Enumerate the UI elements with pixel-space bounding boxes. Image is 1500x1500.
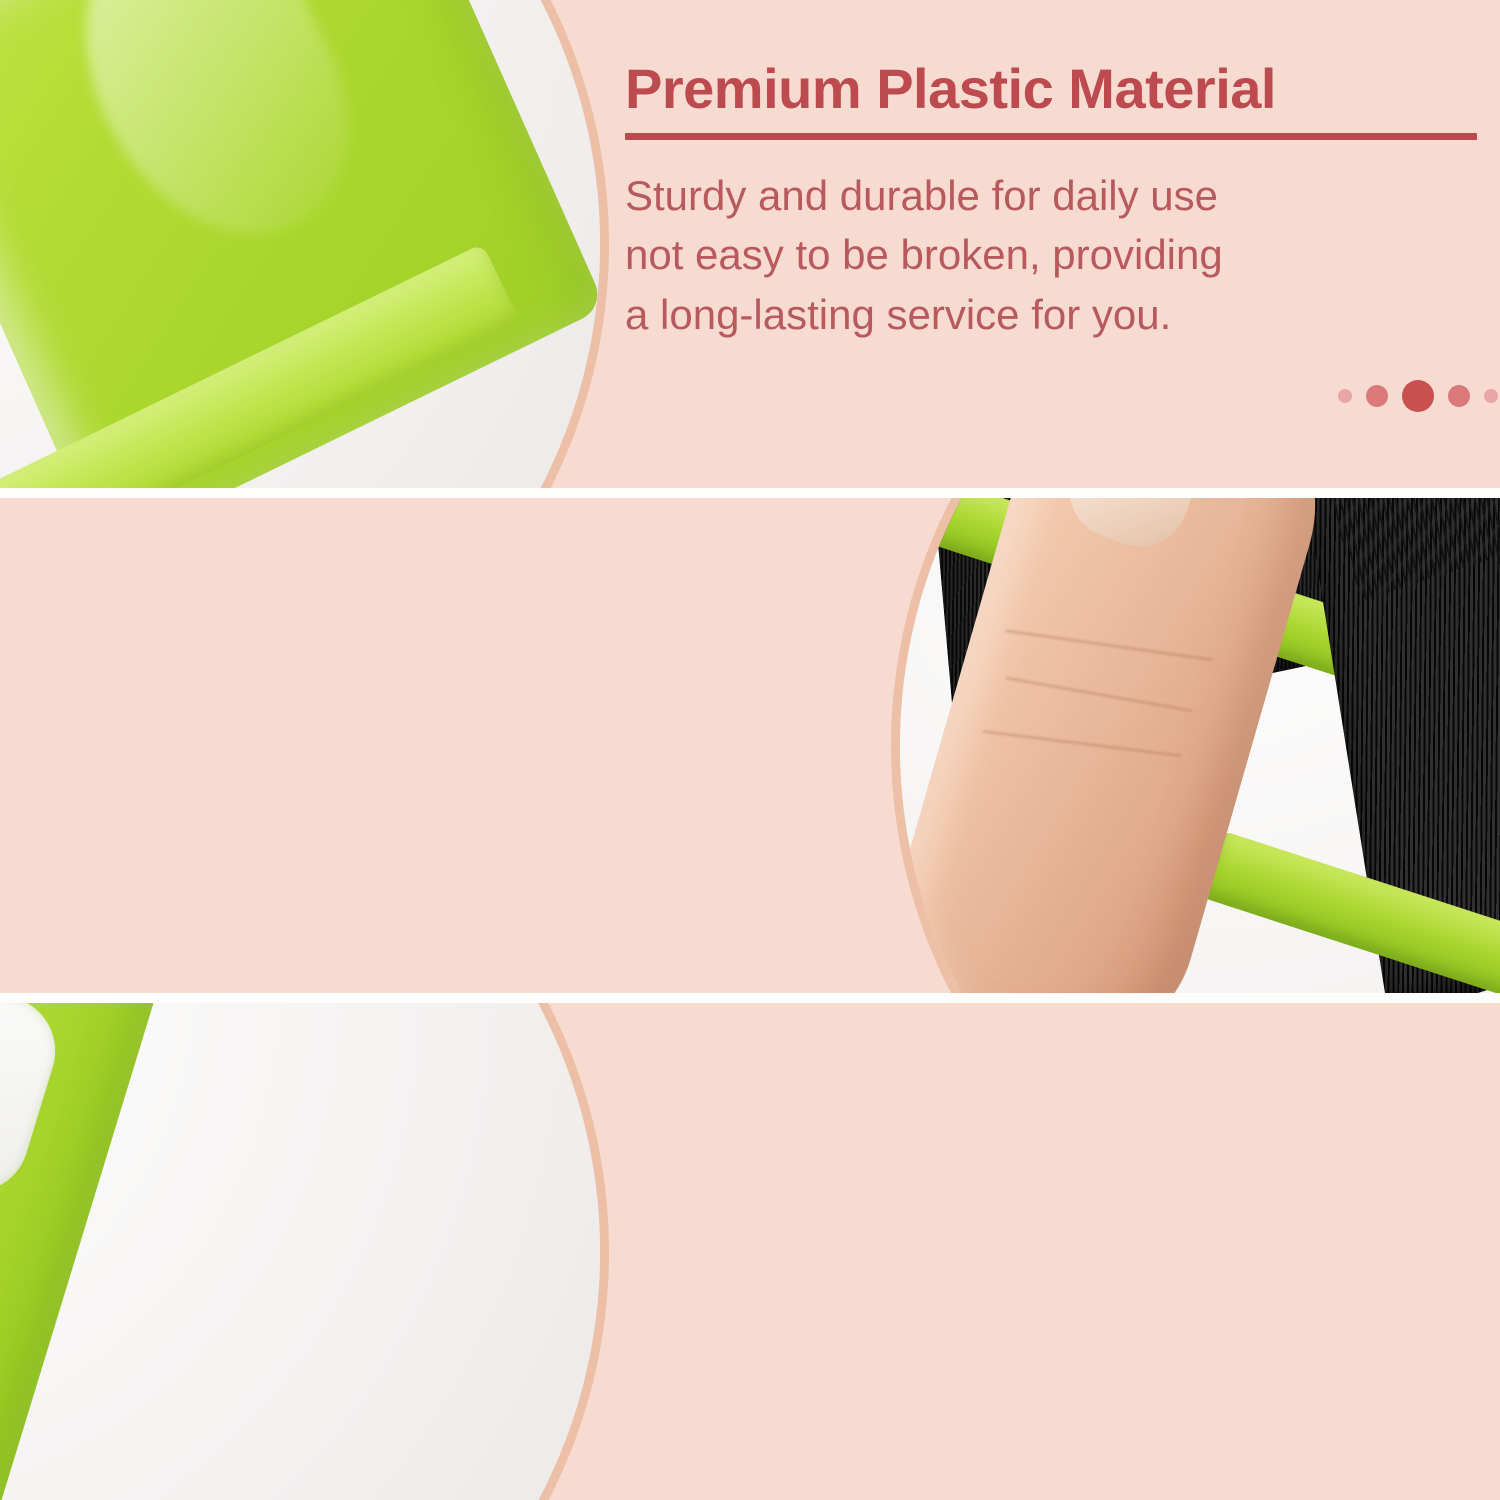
product-photo-dustpan-scoop: [0, 0, 600, 488]
dot-icon: [1366, 385, 1388, 407]
feature-panel-high-density-bristles: High Density Bristles Slim PET silk tigh…: [0, 498, 1500, 993]
product-photo-bristles-in-hand: [900, 498, 1500, 993]
decorative-dots-1: [1338, 380, 1498, 412]
feature-panel-premium-plastic-material: Premium Plastic Material Sturdy and dura…: [0, 0, 1500, 488]
skin-crease: [1005, 629, 1213, 661]
feature-body-line-1-1: Sturdy and durable for daily use: [625, 166, 1480, 226]
feature-body-line-1-3: a long-lasting service for you.: [625, 285, 1480, 345]
headline-underline-1: [625, 133, 1477, 140]
dot-icon: [1484, 389, 1498, 403]
dot-icon: [1448, 385, 1470, 407]
product-feature-infographic: Premium Plastic Material Sturdy and dura…: [0, 0, 1500, 1500]
dot-icon: [1402, 380, 1434, 412]
dot-icon: [1338, 389, 1352, 403]
skin-crease: [1005, 676, 1193, 712]
feature-headline-1: Premium Plastic Material: [625, 60, 1480, 119]
product-photo-handle: [0, 1003, 600, 1500]
skin-crease: [982, 729, 1181, 756]
feature-body-line-1-2: not easy to be broken, providing: [625, 225, 1480, 285]
feature-panel-easy-grip-handle: Easy-Grip Handle Allows you to grasp com…: [0, 1003, 1500, 1500]
feature-text-block-1: Premium Plastic Material Sturdy and dura…: [625, 60, 1480, 345]
